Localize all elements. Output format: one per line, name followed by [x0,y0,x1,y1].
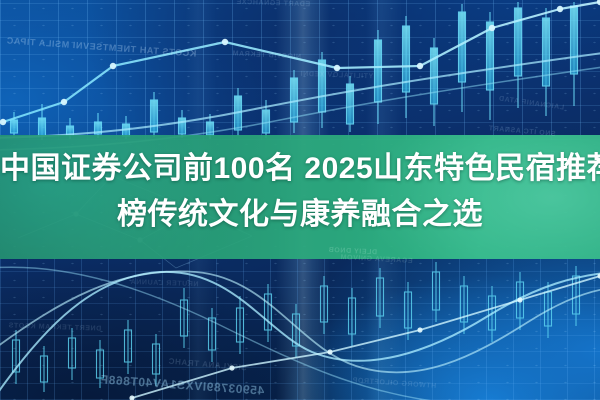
title-line-1: 中国证券公司前100名 2025山东特色民宿推荐 [0,146,600,192]
smooth-curve-upper [0,52,600,138]
banner-title: 中国证券公司前100名 2025山东特色民宿推荐 榜传统文化与康养融合之选 [0,146,600,238]
trend-polyline-top [0,0,600,125]
title-line-2: 榜传统文化与康养融合之选 [0,192,600,238]
candlestick-series-top [11,2,578,140]
banner-image: KCOTS TAH TNEMTSEVNI MSILA TIPAC NIOCTIB… [0,0,600,400]
